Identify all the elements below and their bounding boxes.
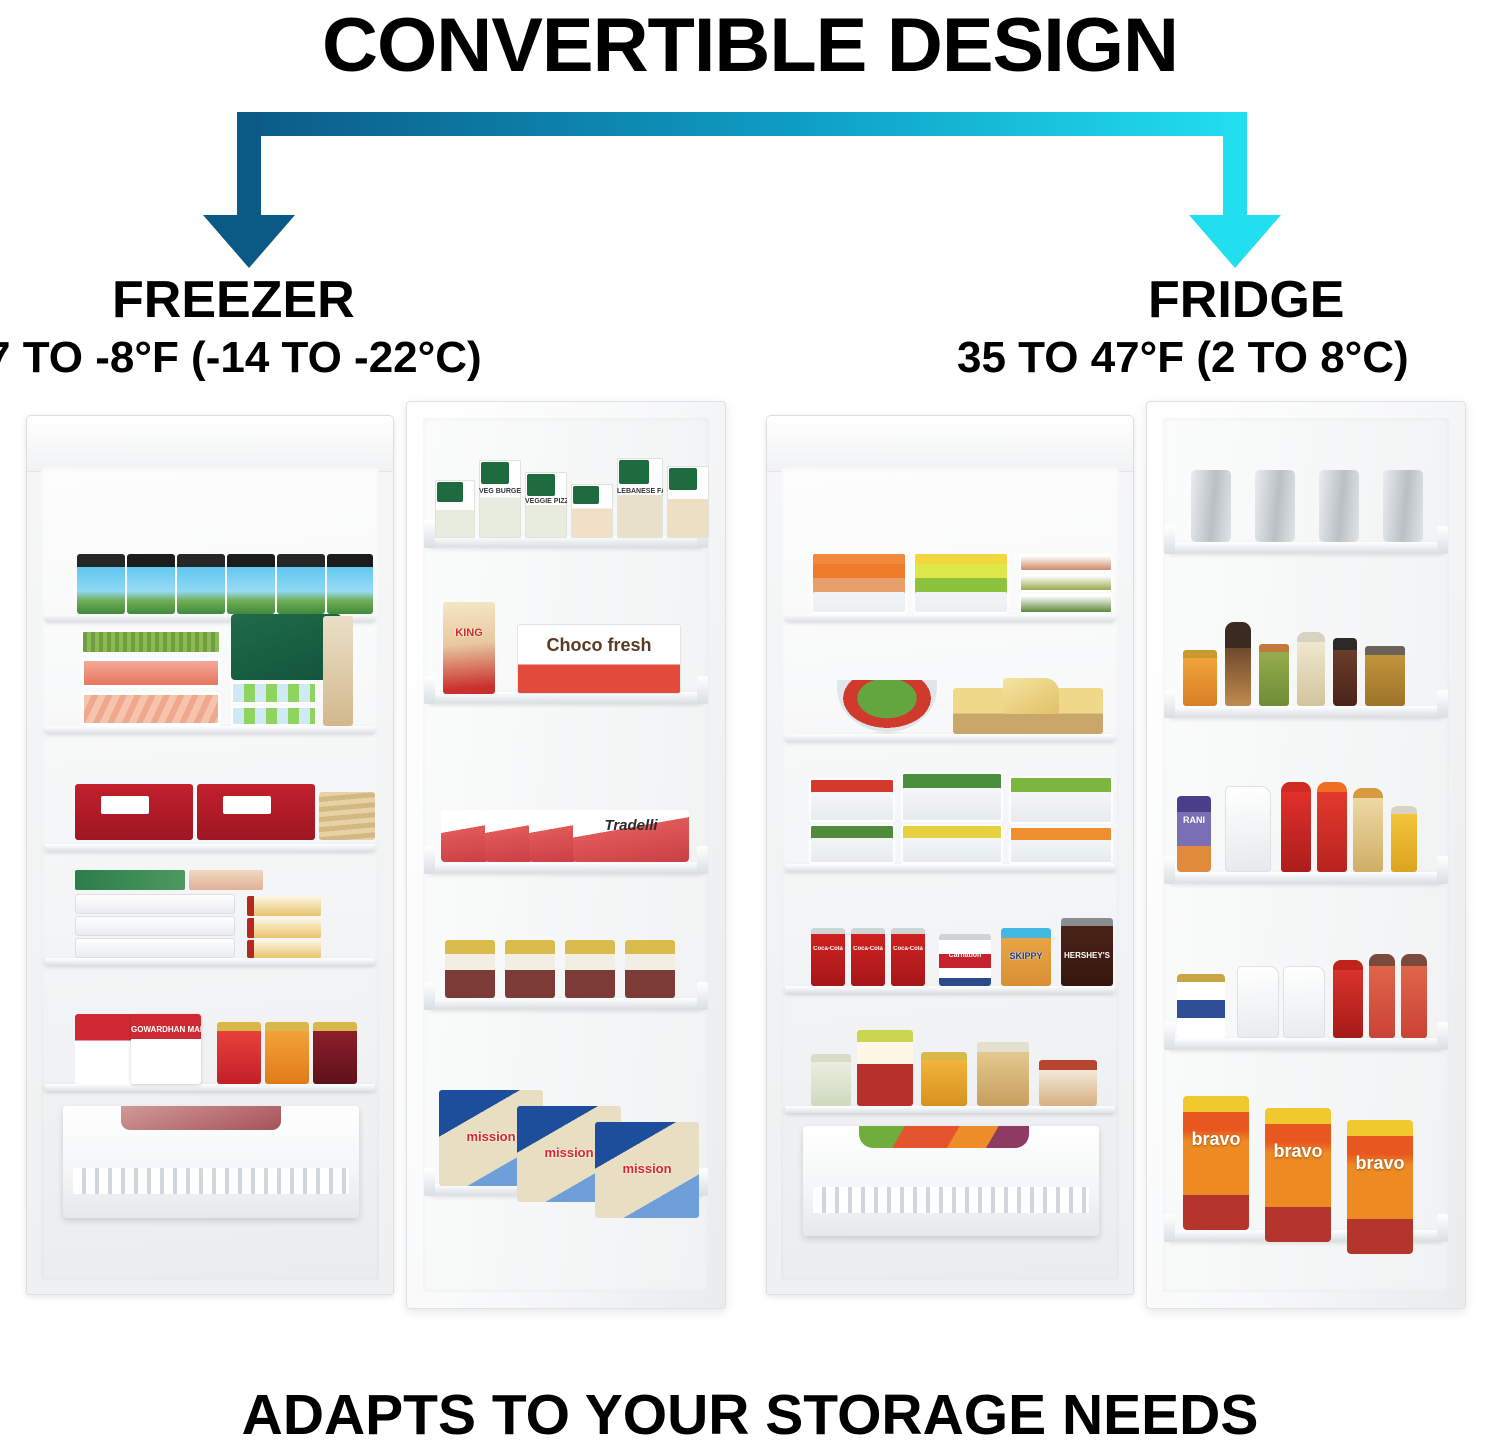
- freezer-shelf-4: [45, 958, 375, 965]
- rani-label: RANI: [1177, 816, 1211, 825]
- paneer-brand-label: GOWARDHAN MALAI Paneer: [131, 1026, 201, 1034]
- freezer-shelf-3: [45, 844, 375, 851]
- fridge-door[interactable]: RANI bravo bravo: [1146, 401, 1466, 1309]
- basket-vent-slots: [73, 1168, 349, 1194]
- mission-brand-label-3: mission: [595, 1162, 699, 1175]
- bravo-label-3: bravo: [1347, 1154, 1413, 1172]
- fridge-shelf-5: [785, 1106, 1115, 1113]
- fridge-shelf-2: [785, 734, 1115, 741]
- veggie-pizza-pocket-label: VEGGIE PIZZA POCKET: [525, 498, 567, 505]
- veg-burger-label: VEG BURGER PATTY SUPER: [479, 488, 521, 495]
- freezer-mode-title: FREEZER: [112, 270, 355, 330]
- fridge-appliance: Coca-Cola Coca-Cola Coca-Cola Carnation …: [758, 395, 1476, 1385]
- basket-vent-slots: [813, 1187, 1089, 1213]
- fridge-cabinet: Coca-Cola Coca-Cola Coca-Cola Carnation …: [766, 415, 1134, 1295]
- freezer-temperature-range: 7 TO -8°F (-14 TO -22°C): [0, 333, 482, 383]
- beverages-bin[interactable]: [1169, 872, 1443, 883]
- bravo-label-2: bravo: [1265, 1142, 1331, 1160]
- hersheys-label: HERSHEY'S: [1061, 952, 1113, 960]
- cabinet-top-trim: [767, 416, 1133, 472]
- coca-cola-label-2: Coca-Cola: [851, 946, 885, 952]
- page-caption: ADAPTS TO YOUR STORAGE NEEDS: [0, 1382, 1500, 1448]
- tradelli-brand-label: Tradelli: [573, 818, 689, 833]
- fridge-shelf-3: [785, 864, 1115, 871]
- freezer-cabinet: GOWARDHAN MALAI Paneer: [26, 415, 394, 1295]
- condiments-bin[interactable]: [1169, 706, 1443, 717]
- freezer-shelf-5: [45, 1084, 375, 1091]
- fridge-temperature-range: 35 TO 47°F (2 TO 8°C): [957, 333, 1409, 383]
- falafel-kebab-label: LEBANESE FALAFEL KEBAB: [617, 488, 663, 495]
- skippy-label: SKIPPY: [1001, 952, 1051, 961]
- choco-fresh-label: Choco fresh: [517, 636, 681, 654]
- freezer-shelf-2: [45, 726, 375, 733]
- freezer-meat-basket[interactable]: [63, 1106, 359, 1218]
- coca-cola-label-1: Coca-Cola: [811, 946, 845, 952]
- cans-bin[interactable]: [1169, 542, 1443, 553]
- bravo-label-1: bravo: [1183, 1130, 1249, 1148]
- kinder-king-label: KING: [443, 628, 495, 639]
- milk-and-sauces-bin[interactable]: [1169, 1038, 1443, 1049]
- fridge-shelf-4: [785, 986, 1115, 993]
- page-title: CONVERTIBLE DESIGN: [0, 2, 1500, 89]
- freezer-liner: GOWARDHAN MALAI Paneer: [41, 466, 379, 1280]
- freezer-door[interactable]: VEG BURGER PATTY SUPER VEGGIE PIZZA POCK…: [406, 401, 726, 1309]
- fridge-mode-title: FRIDGE: [1148, 270, 1344, 330]
- fridge-liner: Coca-Cola Coca-Cola Coca-Cola Carnation …: [781, 466, 1119, 1280]
- cabinet-top-trim: [27, 416, 393, 472]
- freezer-appliance: GOWARDHAN MALAI Paneer VEG BURGER PATTY …: [18, 395, 736, 1385]
- fridge-vegetable-basket[interactable]: [803, 1126, 1099, 1236]
- fridge-door-liner: RANI bravo bravo: [1163, 418, 1449, 1292]
- jam-jars-bin[interactable]: [429, 998, 703, 1009]
- frozen-pouches-bin[interactable]: [429, 862, 703, 873]
- convertible-flow-arrows: [0, 95, 1500, 275]
- carnation-label: Carnation: [939, 952, 991, 959]
- arrow-connector-bar: [237, 112, 1247, 136]
- coca-cola-label-3: Coca-Cola: [891, 946, 925, 952]
- freezer-door-liner: VEG BURGER PATTY SUPER VEGGIE PIZZA POCK…: [423, 418, 709, 1292]
- fridge-shelf-1: [785, 614, 1115, 621]
